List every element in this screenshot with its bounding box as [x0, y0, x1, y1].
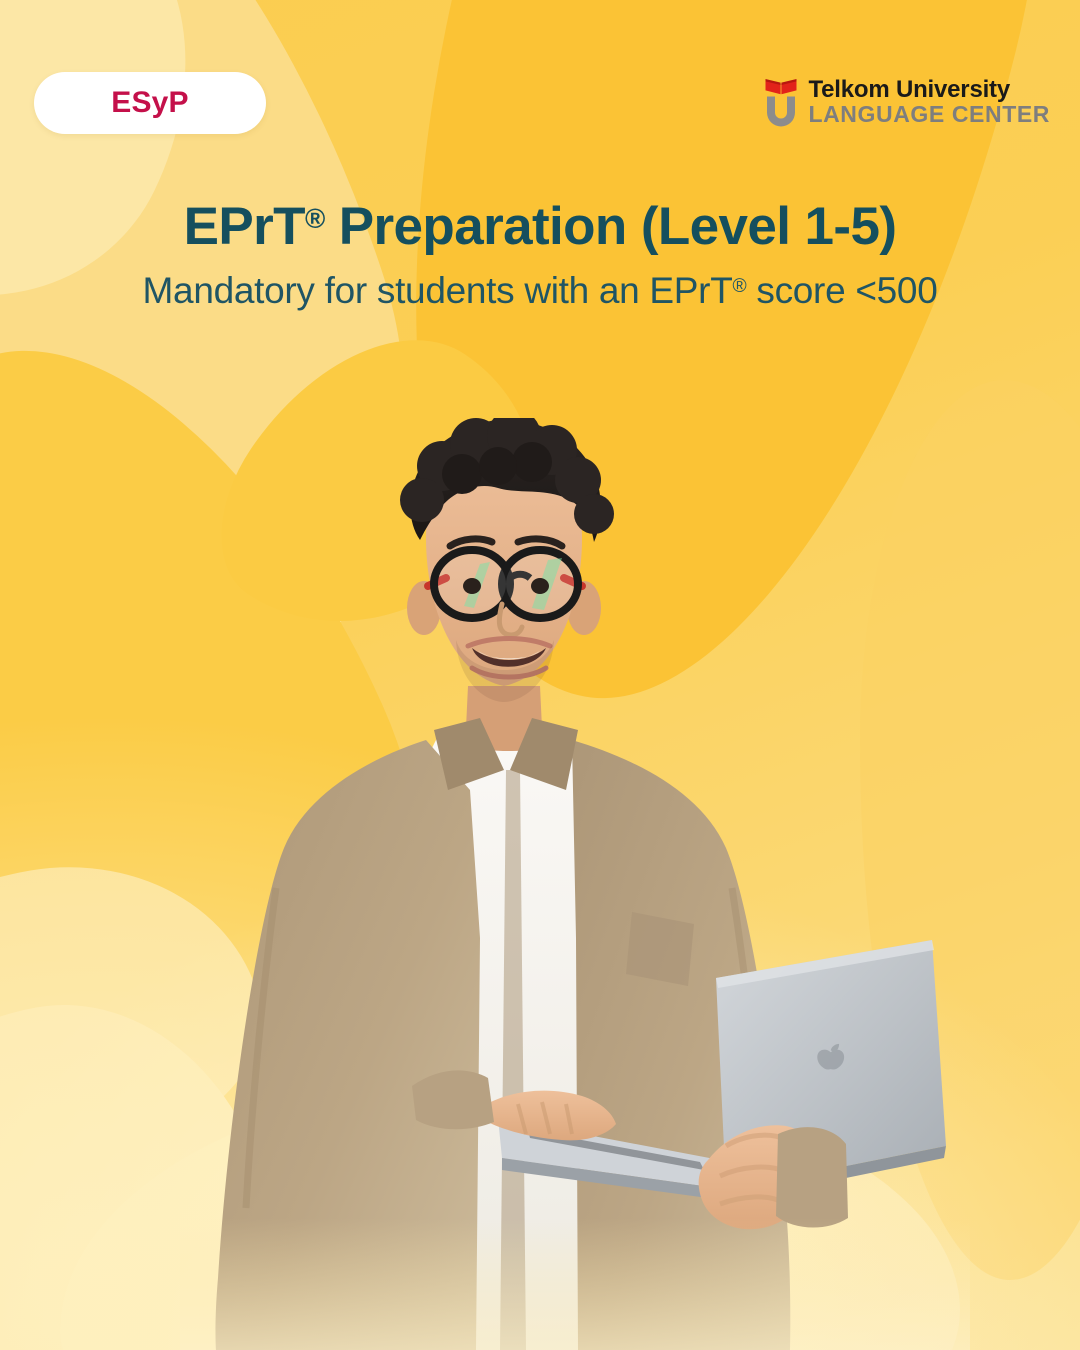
registered-mark-icon: ® — [305, 203, 325, 234]
esyp-badge: ESyP — [34, 72, 266, 134]
page-title-main: EPrT — [184, 197, 305, 256]
headline-block: EPrT® Preparation (Level 1-5) Mandatory … — [0, 198, 1080, 313]
page-title: EPrT® Preparation (Level 1-5) — [40, 198, 1040, 255]
page-title-tail: Preparation (Level 1-5) — [325, 197, 897, 256]
page-subtitle: Mandatory for students with an EPrT® sco… — [40, 269, 1040, 313]
telkom-university-language-center-logo: Telkom University LANGUAGE CENTER — [763, 76, 1050, 128]
registered-mark-icon: ® — [733, 276, 747, 297]
esyp-badge-label: ESyP — [111, 86, 189, 120]
page-subtitle-tail: score <500 — [746, 270, 937, 311]
page-subtitle-main: Mandatory for students with an EPrT — [143, 270, 733, 311]
poster-canvas: ESyP Telkom University LANGUAGE CENTER E… — [0, 0, 1080, 1350]
logo-wordmark: Telkom University LANGUAGE CENTER — [808, 78, 1050, 126]
telkom-open-book-u-mark-icon — [763, 76, 799, 128]
student-photo — [180, 418, 970, 1350]
logo-line-language-center: LANGUAGE CENTER — [808, 103, 1050, 126]
logo-line-telkom-university: Telkom University — [808, 78, 1050, 102]
